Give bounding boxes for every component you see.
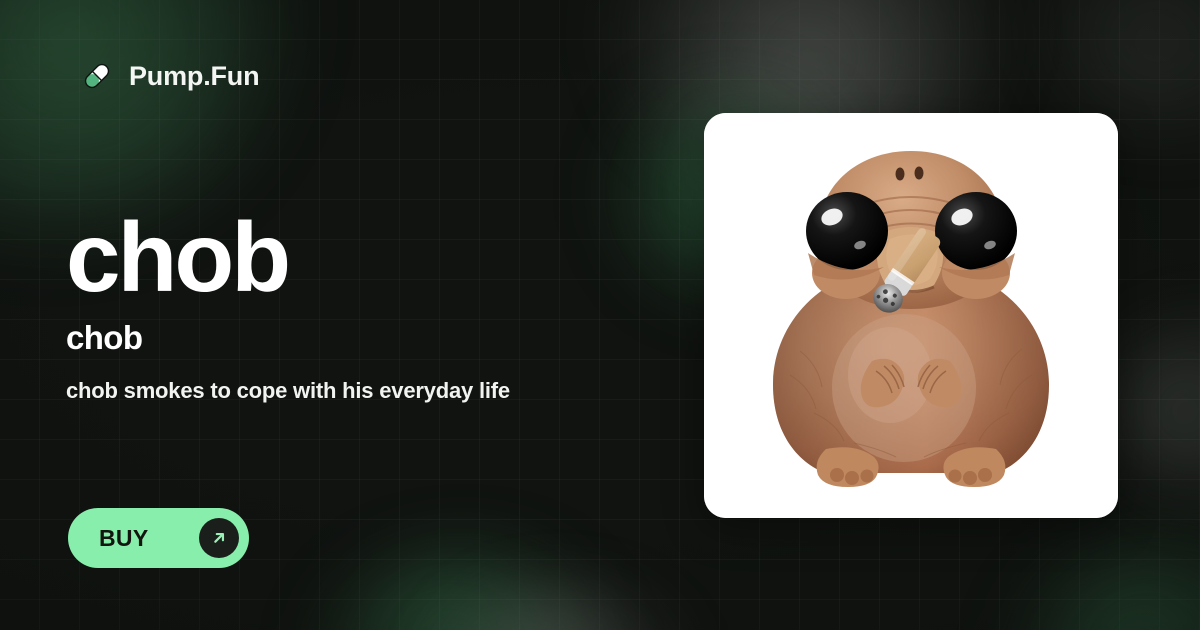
token-image-card[interactable]: [704, 113, 1118, 518]
arrow-up-right-icon: [199, 518, 239, 558]
token-info: chob chob chob smokes to cope with his e…: [66, 208, 686, 405]
token-description: chob smokes to cope with his everyday li…: [66, 376, 686, 406]
social-card-page: Pump.Fun chob chob chob smokes to cope w…: [0, 0, 1200, 630]
pill-capsule-icon: [79, 58, 115, 94]
brand-logo[interactable]: Pump.Fun: [79, 58, 259, 94]
token-image: [704, 113, 1118, 518]
left-eye: [806, 192, 888, 270]
buy-button[interactable]: BUY: [68, 508, 249, 568]
token-title: chob: [66, 208, 686, 308]
buy-button-label: BUY: [99, 527, 199, 550]
token-symbol: chob: [66, 318, 686, 358]
right-eye: [935, 192, 1017, 270]
brand-name: Pump.Fun: [129, 63, 259, 90]
